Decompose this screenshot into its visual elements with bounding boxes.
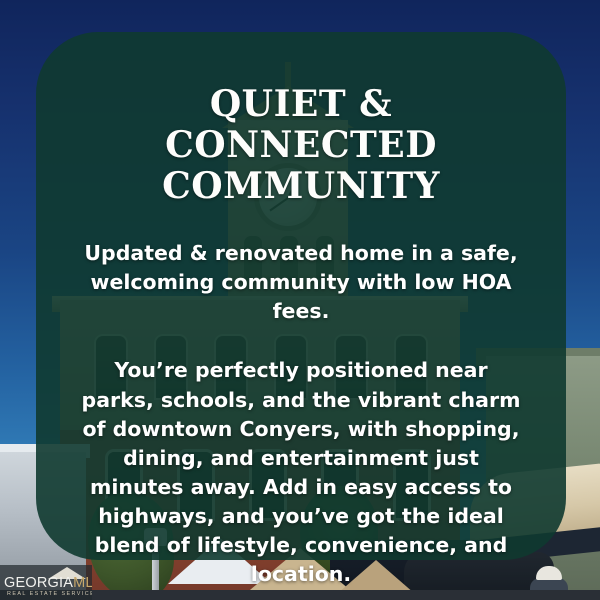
logo-word-mls: MLS [73,575,92,591]
logo-tagline: REAL ESTATE SERVICES [7,591,92,597]
card-paragraph-1: Updated & renovated home in a safe, welc… [76,239,526,326]
card-title: QUIET & CONNECTEDCOMMUNITY [70,84,532,207]
logo-word-georgia: GEORGIA [4,575,73,591]
georgia-mls-logo: GEORGIAMLS REAL ESTATE SERVICES [0,565,92,600]
message-card: QUIET & CONNECTEDCOMMUNITY Updated & ren… [36,32,566,560]
listing-graphic: Σ QUIET & CONNECTEDCOMMUNITY Updated & r… [0,0,600,600]
card-paragraph-2: You’re perfectly positioned near parks, … [76,356,526,589]
card-title-line-2: COMMUNITY [162,165,440,207]
logo-wordmark: GEORGIAMLS [4,576,92,591]
card-title-line-1: QUIET & CONNECTED [165,83,437,166]
card-body: Updated & renovated home in a safe, welc… [70,239,532,589]
